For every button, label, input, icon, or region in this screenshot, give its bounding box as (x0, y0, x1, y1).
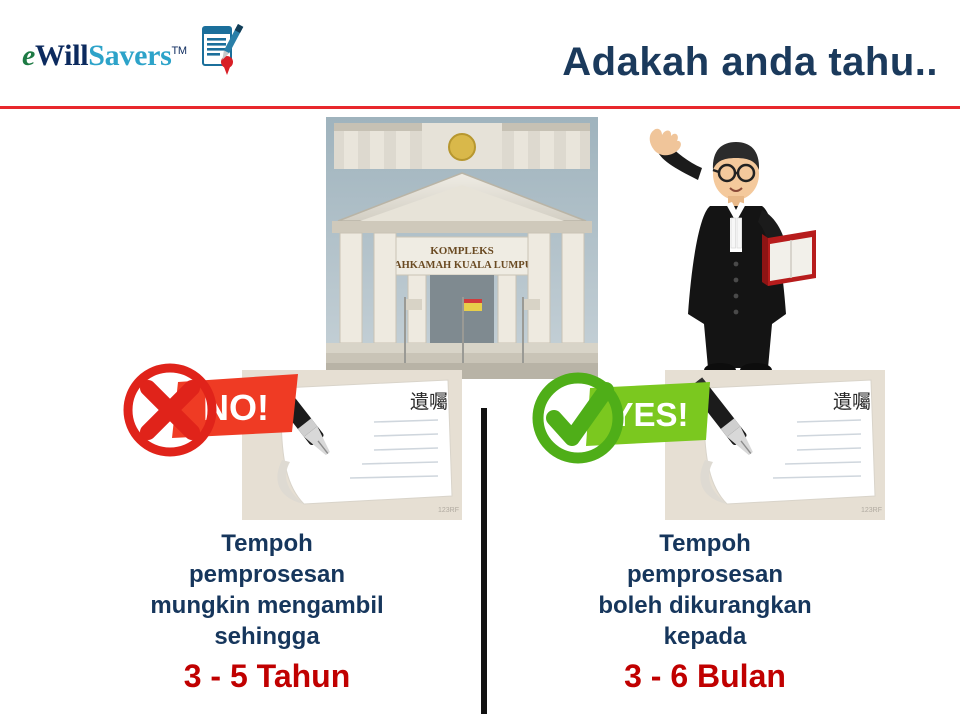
caption-right-line-4: kepada (490, 621, 920, 652)
emphasis-right: 3 - 6 Bulan (490, 656, 920, 696)
caption-right-line-3: boleh dikurangkan (490, 590, 920, 621)
will-document-text-left: 遺囑 (410, 391, 448, 413)
slide-header: eWillSaversTM (0, 0, 960, 108)
caption-right-line-2: pemprosesan (490, 559, 920, 590)
header-divider-rule (0, 106, 960, 109)
scroll-document-with-pen-icon (193, 22, 247, 78)
green-check-yes-badge: YES! (520, 370, 720, 460)
caption-left-line-4: sehingga (52, 621, 482, 652)
will-document-text-right: 遺囑 (833, 391, 871, 413)
emphasis-left: 3 - 5 Tahun (52, 656, 482, 696)
caption-left-line-2: pemprosesan (52, 559, 482, 590)
caption-left: Tempoh pemprosesan mungkin mengambil seh… (52, 528, 482, 696)
ewillsavers-logo: eWillSaversTM (22, 34, 247, 78)
svg-text:123RF: 123RF (438, 507, 459, 514)
logo-trademark: TM (171, 45, 186, 57)
lawyer-illustration (640, 118, 822, 380)
red-cross-no-badge: NO! (112, 360, 312, 450)
kuala-lumpur-court-complex-photo: KOMPLEKS MAHKAMAH KUALA LUMPUR (326, 117, 598, 379)
caption-right: Tempoh pemprosesan boleh dikurangkan kep… (490, 528, 920, 696)
svg-text:KOMPLEKS: KOMPLEKS (430, 245, 494, 257)
svg-text:123RF: 123RF (861, 507, 882, 514)
caption-left-line-3: mungkin mengambil (52, 590, 482, 621)
page-title: Adakah anda tahu.. (562, 40, 938, 85)
caption-left-line-1: Tempoh (52, 528, 482, 559)
svg-text:MAHKAMAH KUALA LUMPUR: MAHKAMAH KUALA LUMPUR (384, 260, 540, 271)
logo-word-savers: Savers (88, 39, 171, 72)
logo-letter-e: e (22, 39, 35, 72)
slide: eWillSaversTM (0, 0, 960, 720)
caption-right-line-1: Tempoh (490, 528, 920, 559)
logo-word-will: Will (35, 39, 88, 72)
logo-wordmark: eWillSaversTM (22, 34, 187, 73)
